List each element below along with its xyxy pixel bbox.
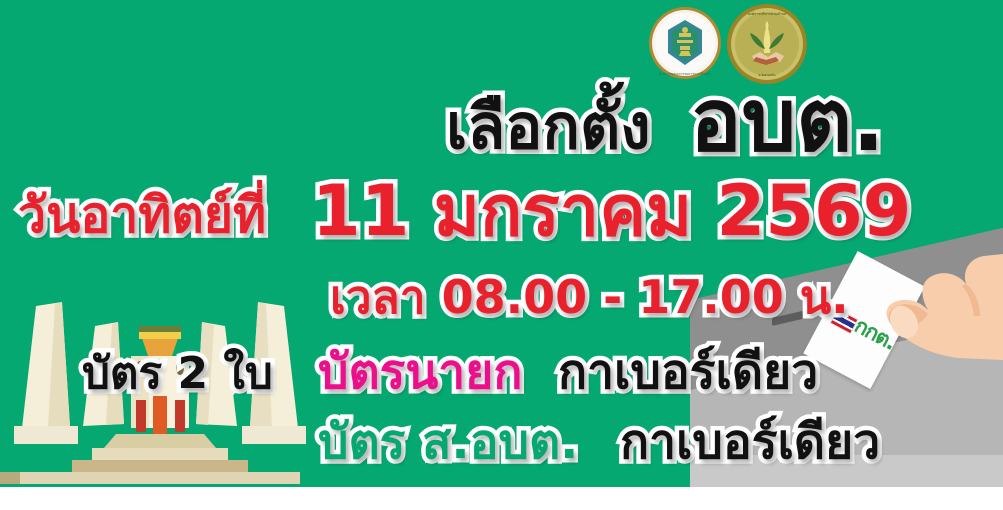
election-commission-of-thailand-emblem: สำนักงานคณะกรรมการการเลือกตั้ง [648, 6, 722, 80]
bottom-white-strip [0, 487, 1003, 510]
mayor-card-label: บัตรนายก [318, 348, 522, 396]
election-poster: กกต. สำนักงานคณะกรรมการการเลือกตั้ง องค์… [0, 0, 1003, 510]
headline-org-label: อบต. [690, 78, 885, 164]
council-card-instruction: กาเบอร์เดียว [620, 418, 880, 466]
date-value: 11 มกราคม 2569 [312, 176, 911, 246]
two-cards-label: บัตร 2 ใบ [82, 352, 273, 396]
time-range: เวลา 08.00 - 17.00 น. [330, 274, 849, 320]
mayor-card-instruction: กาเบอร์เดียว [558, 348, 818, 396]
headline-elect-label: เลือกตั้ง [446, 96, 651, 158]
date-weekday-prefix: วันอาทิตย์ที่ [18, 190, 266, 240]
svg-text:องค์การบริหารส่วนตำบล: องค์การบริหารส่วนตำบล [748, 12, 786, 16]
council-card-label: บัตร ส.อบต. [318, 418, 578, 466]
hand-illustration [862, 250, 1003, 370]
